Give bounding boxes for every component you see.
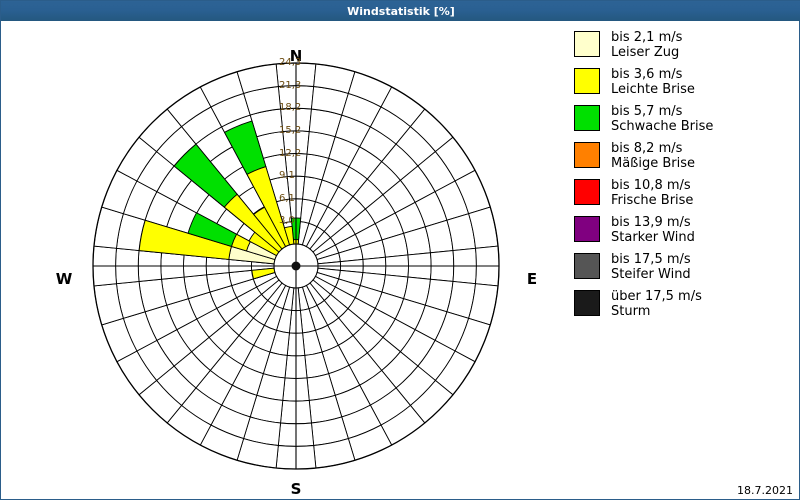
compass-label-south: S	[276, 480, 316, 498]
origin-marker	[292, 262, 301, 271]
legend-range: bis 3,6 m/s	[611, 67, 682, 82]
legend-range: bis 13,9 m/s	[611, 215, 691, 230]
legend-name: Mäßige Brise	[611, 156, 695, 171]
windrose-canvas	[2, 21, 562, 491]
legend-range: bis 8,2 m/s	[611, 141, 682, 156]
legend-swatch	[574, 105, 600, 131]
legend-range: über 17,5 m/s	[611, 289, 702, 304]
radial-tick-label: 12,2	[279, 148, 301, 159]
radial-tick-label: 3,0	[279, 215, 295, 226]
legend-text: bis 2,1 m/sLeiser Zug	[611, 29, 682, 60]
compass-label-east: E	[512, 270, 552, 288]
legend-name: Sturm	[611, 304, 702, 319]
legend-text: bis 5,7 m/sSchwache Brise	[611, 103, 713, 134]
legend-row: bis 10,8 m/sFrische Brise	[574, 177, 799, 208]
legend-name: Frische Brise	[611, 193, 693, 208]
legend-swatch	[574, 216, 600, 242]
legend-text: über 17,5 m/sSturm	[611, 288, 702, 319]
legend-range: bis 5,7 m/s	[611, 104, 682, 119]
legend-swatch	[574, 290, 600, 316]
legend-text: bis 8,2 m/sMäßige Brise	[611, 140, 695, 171]
window-titlebar: Windstatistik [%]	[1, 1, 800, 21]
legend: bis 2,1 m/sLeiser Zugbis 3,6 m/sLeichte …	[574, 29, 799, 325]
client-area: N S W E 3,06,19,112,215,218,221,324,3 bi…	[2, 21, 799, 499]
legend-text: bis 13,9 m/sStarker Wind	[611, 214, 695, 245]
legend-name: Leiser Zug	[611, 45, 682, 60]
radial-tick-label: 18,2	[279, 102, 301, 113]
legend-range: bis 17,5 m/s	[611, 252, 691, 267]
legend-name: Steifer Wind	[611, 267, 691, 282]
legend-range: bis 2,1 m/s	[611, 30, 682, 45]
window-title: Windstatistik [%]	[347, 5, 455, 18]
legend-row: bis 2,1 m/sLeiser Zug	[574, 29, 799, 60]
legend-row: bis 5,7 m/sSchwache Brise	[574, 103, 799, 134]
legend-swatch	[574, 142, 600, 168]
radial-tick-label: 6,1	[279, 193, 295, 204]
legend-row: bis 3,6 m/sLeichte Brise	[574, 66, 799, 97]
radial-tick-label: 9,1	[279, 170, 295, 181]
legend-row: über 17,5 m/sSturm	[574, 288, 799, 319]
legend-row: bis 17,5 m/sSteifer Wind	[574, 251, 799, 282]
legend-name: Schwache Brise	[611, 119, 713, 134]
windrose-plot: N S W E 3,06,19,112,215,218,221,324,3	[2, 21, 562, 491]
legend-row: bis 8,2 m/sMäßige Brise	[574, 140, 799, 171]
radial-tick-label: 15,2	[279, 125, 301, 136]
legend-swatch	[574, 31, 600, 57]
legend-range: bis 10,8 m/s	[611, 178, 691, 193]
radial-tick-label: 21,3	[279, 80, 301, 91]
windrose-window: Windstatistik [%] N S W E 3,06,19,112,21…	[0, 0, 800, 500]
date-stamp: 18.7.2021	[737, 484, 793, 497]
legend-name: Leichte Brise	[611, 82, 695, 97]
legend-text: bis 17,5 m/sSteifer Wind	[611, 251, 691, 282]
radial-tick-label: 24,3	[279, 57, 301, 68]
compass-label-west: W	[44, 270, 84, 288]
legend-swatch	[574, 179, 600, 205]
legend-text: bis 3,6 m/sLeichte Brise	[611, 66, 695, 97]
legend-swatch	[574, 253, 600, 279]
legend-text: bis 10,8 m/sFrische Brise	[611, 177, 693, 208]
legend-name: Starker Wind	[611, 230, 695, 245]
legend-row: bis 13,9 m/sStarker Wind	[574, 214, 799, 245]
legend-swatch	[574, 68, 600, 94]
